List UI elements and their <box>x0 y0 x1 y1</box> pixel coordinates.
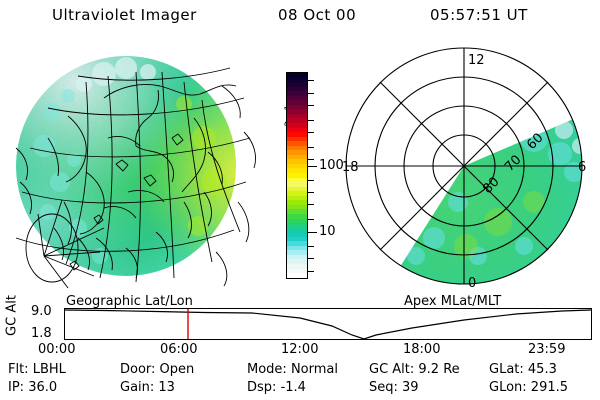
status-field-value: Normal <box>291 362 338 377</box>
status-field: Gain: 13 <box>120 380 175 395</box>
geographic-image-panel[interactable] <box>8 42 266 294</box>
colorbar-major-tick <box>308 232 317 233</box>
polar-grid <box>346 48 582 284</box>
colorbar-band <box>287 273 307 278</box>
status-block: Flt: LBHLDoor: OpenMode: NormalGC Alt: 9… <box>0 362 600 400</box>
status-row-2: IP: 36.0Gain: 13Dsp: -1.4Seq: 39GLon: 29… <box>0 380 600 399</box>
status-field-label: GC Alt: <box>369 362 418 377</box>
status-field: Seq: 39 <box>369 380 419 395</box>
colorbar-minor-tick <box>308 258 314 259</box>
status-field-value: 13 <box>158 380 175 395</box>
colorbar-minor-tick <box>308 120 314 121</box>
polar-image-panel[interactable]: 12 6 0 18 60 70 80 <box>338 42 596 294</box>
time-tick-label: 23:59 <box>528 342 565 357</box>
header-bar: Ultraviolet Imager 08 Oct 00 05:57:51 UT <box>0 6 600 28</box>
colorbar-minor-tick <box>308 93 314 94</box>
polar-dial-svg: 12 6 0 18 60 70 80 <box>338 42 596 294</box>
mlt-label-18: 18 <box>342 160 359 175</box>
observation-time: 05:57:51 UT <box>430 6 528 24</box>
orbit-ytick-low: 1.8 <box>31 326 52 341</box>
status-field-value: Open <box>160 362 195 377</box>
colorbar-minor-tick <box>308 80 314 81</box>
status-field-value: 9.2 Re <box>418 362 459 377</box>
colorbar-minor-tick <box>308 219 314 220</box>
colorbar-minor-tick <box>308 271 314 272</box>
time-tick-label: 12:00 <box>281 342 318 357</box>
observation-date: 08 Oct 00 <box>278 6 356 24</box>
status-field: Mode: Normal <box>247 362 338 377</box>
status-field-label: Mode: <box>247 362 291 377</box>
colorbar-minor-tick <box>308 204 314 205</box>
status-field-label: IP: <box>8 380 28 395</box>
orbit-plot-svg <box>64 308 592 340</box>
status-field: GLat: 45.3 <box>489 362 557 377</box>
colorbar-panel: photon cm-2s-1 10010 <box>266 58 342 294</box>
status-field-label: Gain: <box>120 380 158 395</box>
orbit-altitude-plot[interactable] <box>64 308 592 340</box>
time-tick-label: 18:00 <box>403 342 440 357</box>
orbit-ytick-high: 9.0 <box>31 304 52 319</box>
mlt-label-0: 0 <box>468 276 476 291</box>
status-field-value: -1.4 <box>281 380 306 395</box>
status-row-1: Flt: LBHLDoor: OpenMode: NormalGC Alt: 9… <box>0 362 600 381</box>
status-field-label: Seq: <box>369 380 402 395</box>
status-field-label: GLon: <box>489 380 531 395</box>
geographic-panel-caption: Geographic Lat/Lon <box>66 294 193 309</box>
status-field: Door: Open <box>120 362 194 377</box>
status-field-label: Flt: <box>8 362 33 377</box>
colorbar-minor-tick <box>308 105 314 106</box>
orbit-plot-frame <box>65 309 592 340</box>
time-tick-label: 00:00 <box>38 342 75 357</box>
polar-panel-caption: Apex MLat/MLT <box>404 294 501 309</box>
colorbar-minor-tick <box>308 246 314 247</box>
colorbar-minor-tick <box>308 192 314 193</box>
status-field-label: GLat: <box>489 362 528 377</box>
status-field-value: 39 <box>402 380 419 395</box>
status-field-value: 36.0 <box>28 380 57 395</box>
colorbar-gradient <box>286 72 308 279</box>
colorbar-minor-tick <box>308 159 314 160</box>
mlt-label-6: 6 <box>578 160 586 175</box>
colorbar-major-tick <box>308 166 317 167</box>
status-field-value: LBHL <box>33 362 66 377</box>
mlt-label-12: 12 <box>468 53 485 68</box>
status-field-label: Dsp: <box>247 380 281 395</box>
time-axis-labels: 00:0006:0012:0018:0023:59 <box>0 342 600 360</box>
polar-data-wedge <box>338 42 596 294</box>
status-field: GC Alt: 9.2 Re <box>369 362 460 377</box>
status-field-value: 45.3 <box>528 362 557 377</box>
status-field: GLon: 291.5 <box>489 380 568 395</box>
status-field-value: 291.5 <box>531 380 568 395</box>
colorbar-minor-tick <box>308 180 314 181</box>
geographic-globe-svg <box>8 42 266 294</box>
time-tick-label: 06:00 <box>160 342 197 357</box>
colorbar-tick-label: 10 <box>319 225 336 238</box>
status-field-label: Door: <box>120 362 160 377</box>
colorbar-minor-tick <box>308 132 314 133</box>
colorbar-minor-tick <box>308 147 314 148</box>
status-field: Flt: LBHL <box>8 362 66 377</box>
instrument-title: Ultraviolet Imager <box>52 6 197 24</box>
status-field: Dsp: -1.4 <box>247 380 306 395</box>
status-field: IP: 36.0 <box>8 380 57 395</box>
